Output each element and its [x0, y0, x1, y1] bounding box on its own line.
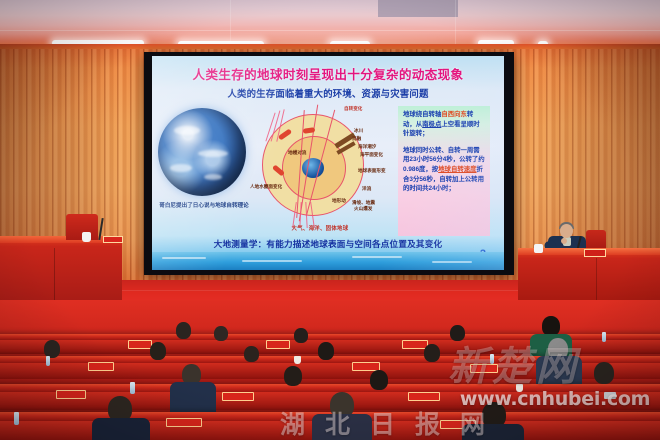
desk-nameplate: [88, 362, 114, 371]
audience-head: [150, 342, 166, 360]
ceiling-vent: [378, 0, 458, 17]
audience-head: [424, 344, 440, 362]
ceiling: [0, 0, 660, 46]
speaker-hand: [561, 238, 567, 244]
podium-left: [0, 236, 122, 302]
teacup-right: [534, 244, 543, 253]
water-bottle: [14, 412, 19, 425]
watermark-chinese: 湖北日报网: [280, 405, 656, 440]
teacup-left: [82, 232, 91, 242]
audience-head: [176, 322, 191, 339]
audience-head: [542, 316, 560, 336]
speaker-head: [560, 224, 573, 238]
screenshot-root: 人类生存的地球时刻呈现出十分复杂的动态现象 人类的生存面临着重大的环境、资源与灾…: [0, 0, 660, 440]
nameplate-left: [103, 236, 123, 243]
desk-nameplate: [266, 340, 290, 349]
podium-right-seam: [596, 258, 597, 306]
desk-nameplate: [222, 392, 254, 401]
audience-torso: [92, 418, 150, 440]
water-bottle: [46, 356, 50, 366]
paper-cup: [294, 356, 301, 364]
watermark-logo: 新楚网: [448, 334, 652, 388]
desk-nameplate: [56, 390, 86, 399]
nameplate-right: [584, 249, 606, 257]
desk-nameplate: [166, 418, 202, 427]
desk-nameplate: [128, 340, 152, 349]
audience-head: [318, 342, 334, 360]
audience-head: [214, 326, 228, 341]
desk-nameplate: [408, 392, 440, 401]
audience-head: [244, 346, 259, 362]
projection-screen: 人类生存的地球时刻呈现出十分复杂的动态现象 人类的生存面临着重大的环境、资源与灾…: [152, 56, 504, 270]
audience-torso: [170, 382, 216, 416]
water-bottle: [130, 382, 135, 394]
audience-head: [370, 370, 388, 390]
audience-head: [284, 366, 302, 386]
screen-glare: [152, 56, 504, 270]
podium-left-seam: [54, 248, 55, 302]
audience-head: [294, 328, 308, 343]
